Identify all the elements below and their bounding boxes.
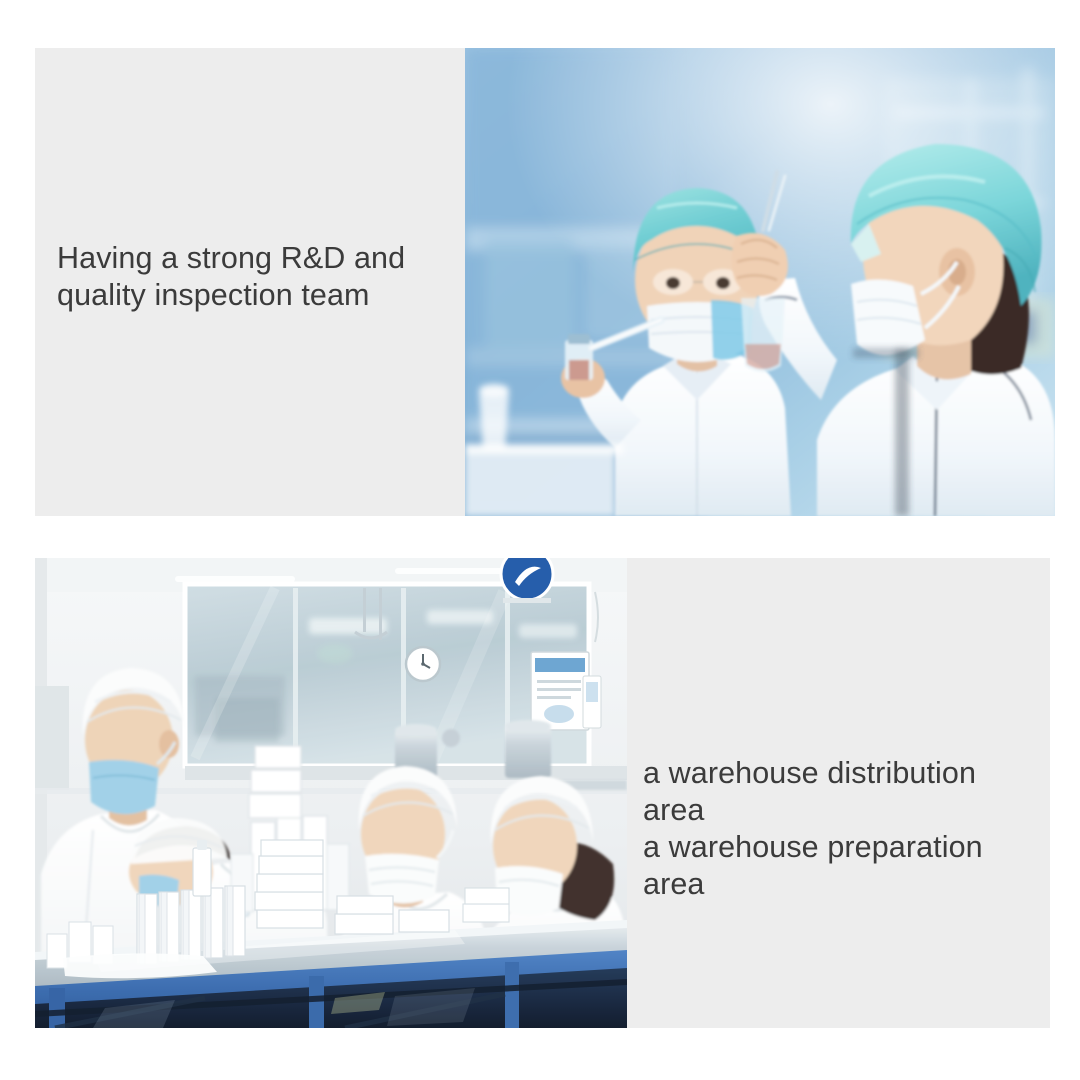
slide-page: Having a strong R&D and quality inspecti… [0,0,1080,1080]
warehouse-photo-illustration [35,558,627,1028]
lab-photo-illustration [465,48,1055,516]
cleanroom-packaging-warehouse-photo [35,558,627,1028]
lab-technicians-quality-inspection-photo [465,48,1055,516]
section-warehouse-areas: a warehouse distribution area a warehous… [0,540,1080,1080]
section-rd-quality-inspection: Having a strong R&D and quality inspecti… [0,0,1080,540]
caption-text-warehouse: a warehouse distribution area a warehous… [643,755,1043,903]
caption-text-rd-quality: Having a strong R&D and quality inspecti… [57,240,457,314]
